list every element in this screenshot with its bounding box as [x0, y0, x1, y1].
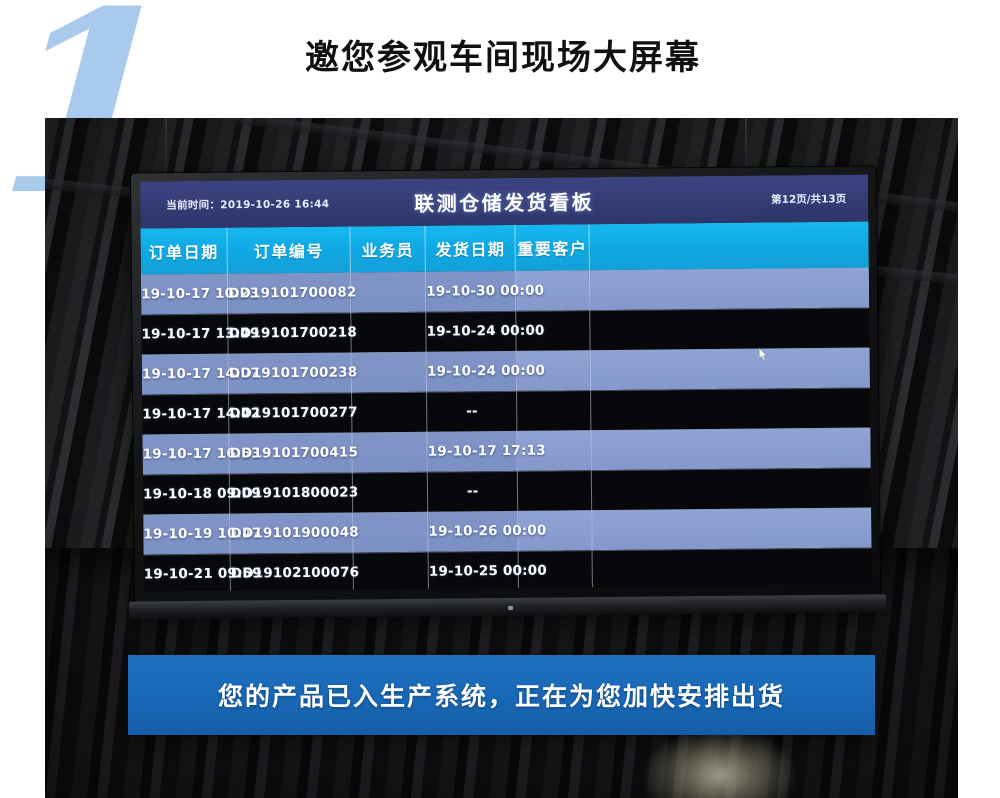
- cell-order-date: 19-10-21 09:59: [144, 554, 231, 592]
- cell-order-no: DD19101700082: [228, 272, 351, 313]
- cell-extra: [590, 308, 870, 351]
- table-row: 19-10-21 09:59 DD19102100076 19-10-25 00…: [144, 547, 872, 591]
- cell-salesman: [351, 272, 426, 313]
- cell-order-date: 19-10-17 10:23: [141, 274, 228, 315]
- table-row: 19-10-17 14:07 DD19101700238 19-10-24 00…: [142, 348, 870, 395]
- cell-order-date: 19-10-17 16:53: [142, 434, 229, 475]
- promo-page: 1 邀您参观车间现场大屏幕 当前时间：2019-10-26 16:44 联测仓储…: [0, 0, 1000, 798]
- cell-extra: [591, 427, 871, 470]
- cell-order-date: 19-10-17 14:07: [142, 354, 229, 395]
- current-time-label: 当前时间：2019-10-26 16:44: [166, 196, 329, 213]
- page-title: 邀您参观车间现场大屏幕: [0, 30, 1000, 79]
- cell-key-customer: [518, 470, 592, 511]
- tv-screen: 当前时间：2019-10-26 16:44 联测仓储发货看板 第12页/共13页…: [140, 175, 872, 592]
- cell-ship-date: 19-10-30 00:00: [426, 271, 517, 312]
- cell-salesman: [352, 392, 427, 433]
- cell-ship-date: 19-10-25 00:00: [428, 551, 519, 592]
- cell-extra: [590, 388, 870, 431]
- cell-salesman: [351, 352, 426, 393]
- shipping-board-table: 订单日期 订单编号 业务员 发货日期 重要客户 19-10-17 10:23 D…: [140, 222, 871, 592]
- cell-order-no: DD19101700238: [228, 352, 351, 393]
- cell-order-no: DD19101700277: [229, 392, 352, 433]
- cell-order-no: DD19101700415: [229, 432, 352, 473]
- cell-ship-date: 19-10-26 00:00: [428, 511, 519, 552]
- cell-order-no: DD19102100076: [230, 552, 353, 591]
- column-header-extra: [589, 222, 869, 271]
- cell-ship-date: --: [427, 391, 518, 432]
- table-header-row: 订单日期 订单编号 业务员 发货日期 重要客户: [140, 222, 868, 275]
- cell-extra: [592, 547, 872, 590]
- cell-order-date: 19-10-18 09:09: [143, 474, 230, 515]
- cell-extra: [590, 348, 870, 391]
- cell-salesman: [352, 432, 427, 473]
- cell-extra: [589, 268, 869, 311]
- cell-salesman: [351, 312, 426, 353]
- tv-power-led-icon: [508, 606, 513, 610]
- column-header-order-no: 订单编号: [227, 226, 350, 273]
- column-header-key-customer: 重要客户: [515, 224, 589, 271]
- dashboard-header: 当前时间：2019-10-26 16:44 联测仓储发货看板 第12页/共13页: [140, 175, 868, 229]
- table-row: 19-10-17 16:53 DD19101700415 19-10-17 17…: [142, 427, 870, 474]
- cell-ship-date: 19-10-24 00:00: [426, 311, 517, 352]
- cell-extra: [591, 467, 871, 510]
- cell-key-customer: [517, 390, 591, 431]
- cell-order-date: 19-10-19 10:47: [143, 514, 230, 555]
- cell-order-date: 19-10-17 14:42: [142, 394, 229, 435]
- table-row: 19-10-17 14:42 DD19101700277 --: [142, 388, 870, 435]
- banner-text: 您的产品已入生产系统，正在为您加快安排出货: [218, 677, 785, 713]
- cell-ship-date: --: [427, 471, 518, 512]
- column-header-salesman: 业务员: [350, 226, 425, 273]
- wall-mounted-tv: 当前时间：2019-10-26 16:44 联测仓储发货看板 第12页/共13页…: [131, 166, 880, 609]
- cell-salesman: [352, 472, 427, 513]
- cell-ship-date: 19-10-17 17:13: [427, 431, 518, 472]
- table-row: 19-10-17 10:23 DD19101700082 19-10-30 00…: [141, 268, 869, 315]
- cell-order-no: DD19101800023: [229, 472, 352, 513]
- cell-salesman: [353, 512, 428, 553]
- cell-salesman: [353, 552, 428, 592]
- cell-order-no: DD19101900048: [230, 512, 353, 553]
- cell-ship-date: 19-10-24 00:00: [426, 351, 517, 392]
- table-row: 19-10-17 13:49 DD19101700218 19-10-24 00…: [141, 308, 869, 355]
- cell-order-date: 19-10-17 13:49: [141, 314, 228, 355]
- page-indicator: 第12页/共13页: [771, 191, 846, 207]
- cell-extra: [592, 507, 872, 550]
- table-row: 19-10-19 10:47 DD19101900048 19-10-26 00…: [143, 507, 871, 554]
- bottom-message-banner: 您的产品已入生产系统，正在为您加快安排出货: [128, 655, 875, 735]
- column-header-ship-date: 发货日期: [425, 225, 516, 272]
- table-body: 19-10-17 10:23 DD19101700082 19-10-30 00…: [141, 268, 872, 592]
- table-row: 19-10-18 09:09 DD19101800023 --: [143, 467, 871, 514]
- column-header-order-date: 订单日期: [140, 228, 227, 275]
- cell-order-no: DD19101700218: [228, 312, 351, 353]
